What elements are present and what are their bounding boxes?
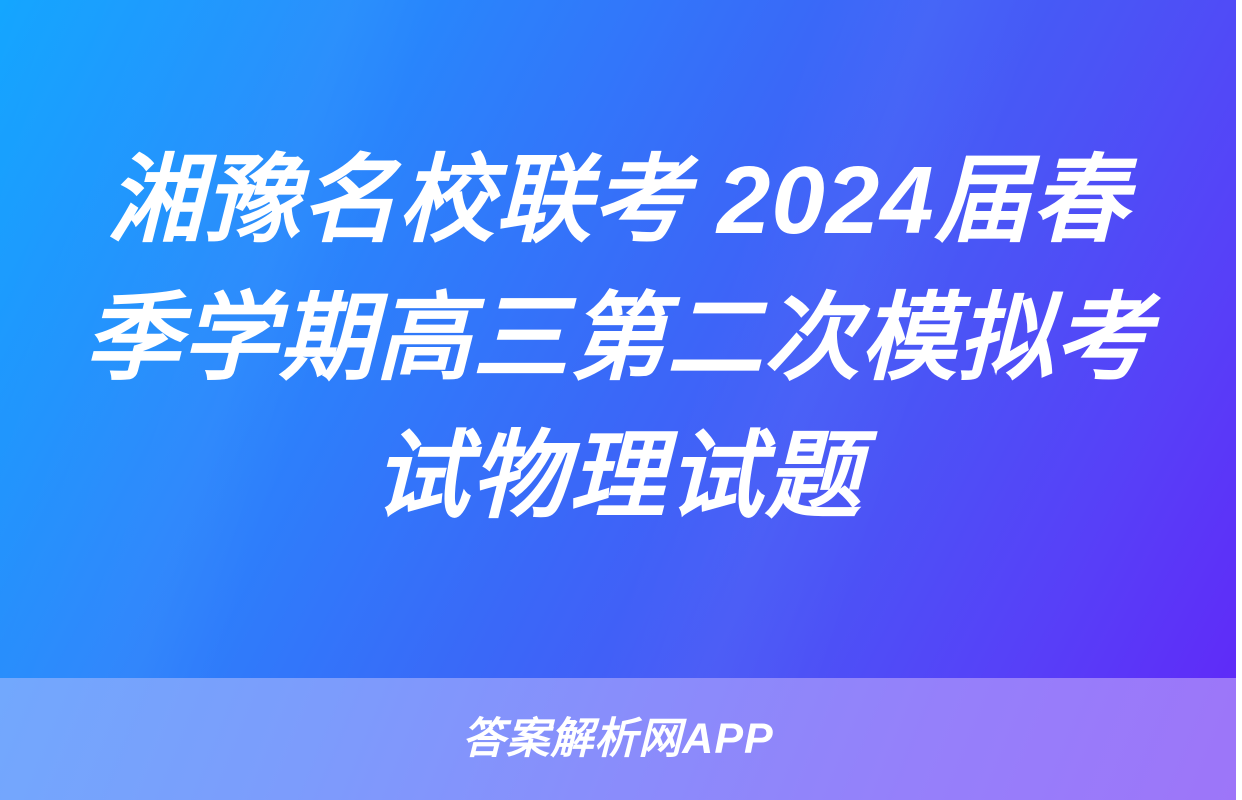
page-edge-sliver (1236, 0, 1242, 800)
title-line-3: 试物理试题 (373, 408, 863, 546)
title-line-1: 湘豫名校联考 2024届春 (107, 132, 1128, 270)
title-line-2: 季学期高三第二次模拟考 (85, 270, 1152, 408)
title-block: 湘豫名校联考 2024届春 季学期高三第二次模拟考 试物理试题 (0, 0, 1236, 678)
poster-card: 湘豫名校联考 2024届春 季学期高三第二次模拟考 试物理试题 答案解析网APP (0, 0, 1242, 800)
app-watermark-label: 答案解析网APP (462, 715, 773, 763)
footer-band: 答案解析网APP (0, 678, 1236, 800)
